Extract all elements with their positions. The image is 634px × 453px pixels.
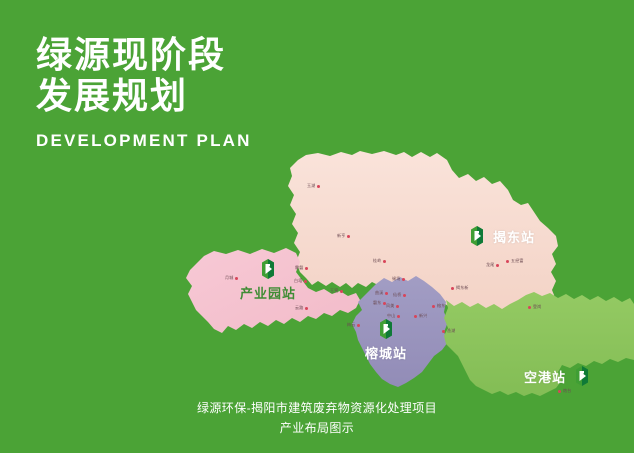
- station-marker-jiedong[interactable]: 揭东站: [468, 225, 535, 247]
- town-label: 龙尾: [486, 262, 494, 268]
- town-marker: 玉窖: [330, 288, 343, 294]
- town-dot-icon: [402, 278, 405, 281]
- town-label: 桂岭: [373, 258, 381, 264]
- town-label: 榕东: [437, 303, 445, 309]
- town-marker: 登岗: [528, 304, 541, 310]
- town-label: 云路: [295, 305, 303, 311]
- town-dot-icon: [432, 305, 435, 308]
- town-label: 凤美: [386, 303, 394, 309]
- station-label-konggang: 空港站: [524, 367, 566, 386]
- town-label: 炮台: [563, 388, 571, 394]
- page-title-line-1: 绿源现阶段: [36, 34, 356, 75]
- town-dot-icon: [385, 292, 388, 295]
- town-dot-icon: [451, 287, 454, 290]
- caption-block: 绿源环保-揭阳市建筑废弃物资源化处理项目 产业布局图示: [0, 398, 634, 438]
- station-label-jiedong: 揭东站: [493, 227, 535, 246]
- lvyuan-logo-icon: [259, 258, 277, 280]
- town-marker: 桂岭: [373, 258, 386, 264]
- town-marker: 新亨: [337, 233, 350, 239]
- town-label: 霖磐: [295, 265, 303, 271]
- town-dot-icon: [340, 290, 343, 293]
- town-dot-icon: [528, 306, 531, 309]
- town-dot-icon: [506, 260, 509, 263]
- town-dot-icon: [403, 294, 406, 297]
- town-dot-icon: [305, 307, 308, 310]
- town-label: 曲溪: [375, 290, 383, 296]
- town-marker: 云路: [295, 305, 308, 311]
- town-marker: 月城: [225, 275, 238, 281]
- town-marker: 仙桥: [393, 292, 406, 298]
- town-marker: 新兴: [414, 313, 427, 319]
- lvyuan-logo-icon: [377, 318, 395, 340]
- caption-line-2: 产业布局图示: [0, 418, 634, 438]
- town-marker: 揭东新: [451, 285, 469, 291]
- town-dot-icon: [396, 305, 399, 308]
- town-label: 梅云: [347, 322, 355, 328]
- town-dot-icon: [305, 267, 308, 270]
- town-marker: 霖磐: [295, 265, 308, 271]
- town-marker: 锡场: [392, 276, 405, 282]
- town-label: 玉湖: [307, 183, 315, 189]
- town-dot-icon: [357, 324, 360, 327]
- station-label-rongcheng: 榕城站: [365, 343, 407, 362]
- page-title-line-2: 发展规划: [36, 75, 356, 116]
- town-marker: 榕东: [432, 303, 445, 309]
- town-marker: 曲溪: [375, 290, 388, 296]
- town-label: 渔湖: [447, 328, 455, 334]
- caption-line-1: 绿源环保-揭阳市建筑废弃物资源化处理项目: [0, 398, 634, 418]
- town-dot-icon: [317, 185, 320, 188]
- town-marker: 磐东: [373, 300, 386, 306]
- town-label: 磐东: [373, 300, 381, 306]
- page-subtitle: DEVELOPMENT PLAN: [36, 131, 356, 151]
- town-label: 五经富: [511, 258, 524, 264]
- town-dot-icon: [347, 235, 350, 238]
- town-marker: 渔湖: [442, 328, 455, 334]
- town-marker: 梅云: [347, 322, 360, 328]
- town-marker: 炮台: [558, 388, 571, 394]
- town-dot-icon: [414, 315, 417, 318]
- lvyuan-logo-icon: [468, 225, 486, 247]
- town-label: 玉窖: [330, 288, 338, 294]
- town-label: 揭东新: [456, 285, 469, 291]
- station-marker-konggang[interactable]: 空港站: [524, 365, 591, 387]
- town-dot-icon: [304, 280, 307, 283]
- town-marker: 龙尾: [486, 262, 499, 268]
- town-dot-icon: [558, 390, 561, 393]
- lvyuan-logo-icon: [573, 365, 591, 387]
- town-label: 锡场: [392, 276, 400, 282]
- town-marker: 凤美: [386, 303, 399, 309]
- town-label: 登岗: [533, 304, 541, 310]
- town-marker: 玉湖: [307, 183, 320, 189]
- town-label: 月城: [225, 275, 233, 281]
- town-dot-icon: [383, 260, 386, 263]
- station-label-chanyeyuan: 产业园站: [240, 283, 296, 302]
- town-dot-icon: [442, 330, 445, 333]
- town-label: 仙桥: [393, 292, 401, 298]
- development-plan-poster: 绿源现阶段 发展规划 DEVELOPMENT PLAN 揭东站 产业园站 榕城站: [0, 0, 634, 453]
- title-block: 绿源现阶段 发展规划 DEVELOPMENT PLAN: [36, 34, 356, 151]
- station-marker-rongcheng[interactable]: 榕城站: [365, 318, 407, 362]
- town-label: 新兴: [419, 313, 427, 319]
- town-dot-icon: [235, 277, 238, 280]
- town-dot-icon: [496, 264, 499, 267]
- station-marker-chanyeyuan[interactable]: 产业园站: [240, 258, 296, 302]
- town-label: 新亨: [337, 233, 345, 239]
- town-marker: 五经富: [506, 258, 524, 264]
